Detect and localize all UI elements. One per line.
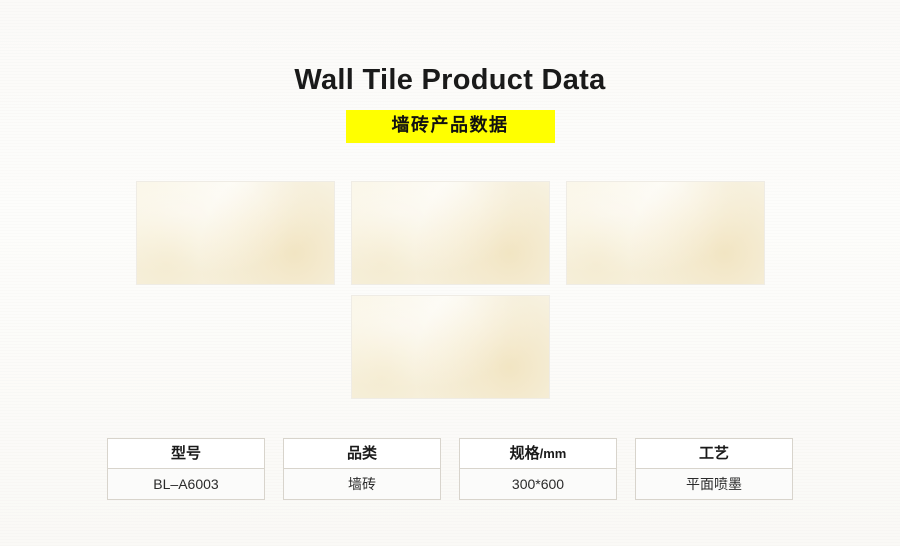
subtitle-highlight-bar: 墙砖产品数据 bbox=[346, 110, 555, 143]
spec-value-process: 平面喷墨 bbox=[636, 469, 792, 499]
tile-haze bbox=[567, 182, 764, 284]
spec-header-category: 品类 bbox=[284, 439, 440, 469]
spec-column-model: 型号 BL–A6003 bbox=[107, 438, 265, 500]
spec-header-unit: /mm bbox=[540, 446, 567, 461]
spec-column-size: 规格/mm 300*600 bbox=[459, 438, 617, 500]
spec-header-label: 型号 bbox=[171, 445, 201, 462]
spec-header-label: 品类 bbox=[347, 445, 377, 462]
tile-row-bottom bbox=[0, 295, 900, 399]
tile-image-3 bbox=[566, 181, 765, 285]
tile-image-2 bbox=[351, 181, 550, 285]
tile-haze bbox=[352, 182, 549, 284]
page-header: Wall Tile Product Data 墙砖产品数据 bbox=[0, 62, 900, 143]
spec-table: 型号 BL–A6003 品类 墙砖 规格/mm 300*600 工艺 平面喷墨 bbox=[0, 438, 900, 500]
spec-header-size: 规格/mm bbox=[460, 439, 616, 469]
page-title: Wall Tile Product Data bbox=[0, 62, 900, 98]
tile-haze bbox=[137, 182, 334, 284]
spec-header-label: 工艺 bbox=[699, 445, 729, 462]
spec-header-model: 型号 bbox=[108, 439, 264, 469]
spec-value-size: 300*600 bbox=[460, 469, 616, 499]
tile-row-top bbox=[0, 181, 900, 285]
tile-image-1 bbox=[136, 181, 335, 285]
page-subtitle: 墙砖产品数据 bbox=[392, 115, 509, 135]
spec-column-category: 品类 墙砖 bbox=[283, 438, 441, 500]
tile-image-4 bbox=[351, 295, 550, 399]
spec-header-process: 工艺 bbox=[636, 439, 792, 469]
tile-haze bbox=[352, 296, 549, 398]
spec-value-category: 墙砖 bbox=[284, 469, 440, 499]
tile-gallery bbox=[0, 181, 900, 399]
product-data-page: Wall Tile Product Data 墙砖产品数据 bbox=[0, 0, 900, 546]
spec-column-process: 工艺 平面喷墨 bbox=[635, 438, 793, 500]
spec-value-model: BL–A6003 bbox=[108, 469, 264, 499]
spec-header-label: 规格 bbox=[510, 445, 540, 462]
